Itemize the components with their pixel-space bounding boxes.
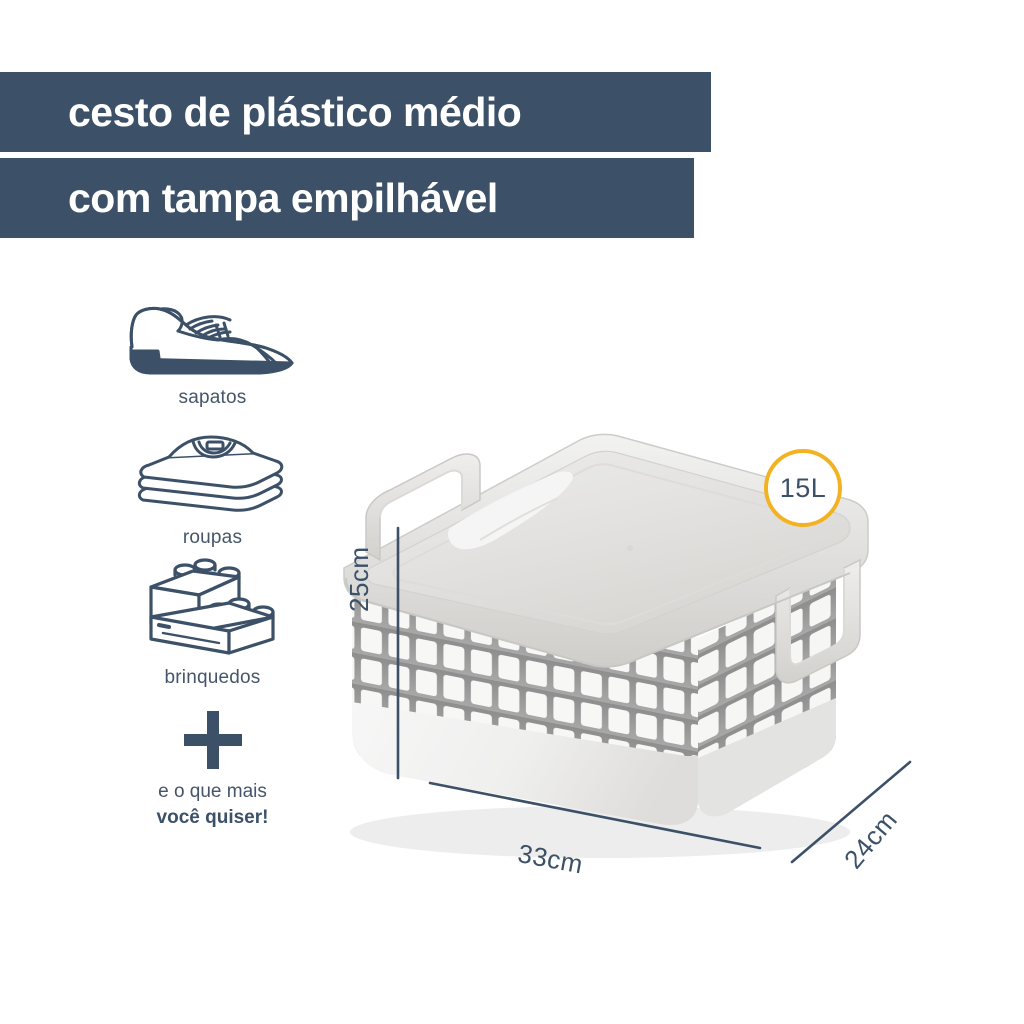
extra-text-line2: você quiser! [110, 807, 315, 829]
title-line1-text: cesto de plástico médio [68, 89, 521, 136]
feature-label-toys: brinquedos [110, 667, 315, 689]
title-banner-line1: cesto de plástico médio [0, 72, 711, 152]
plus-icon [110, 705, 315, 775]
feature-item-shoes: sapatos [110, 285, 315, 409]
capacity-badge-label: 15L [780, 473, 827, 504]
feature-label-clothes: roupas [110, 527, 315, 549]
product-image-basket [330, 400, 990, 920]
feature-item-extra: e o que mais você quiser! [110, 705, 315, 829]
feature-item-toys: brinquedos [110, 565, 315, 689]
toy-bricks-icon [110, 565, 315, 657]
feature-list: sapatos [110, 285, 315, 845]
dress-shoe-icon [110, 285, 315, 377]
folded-clothes-icon [110, 425, 315, 517]
title-banner-line2: com tampa empilhável [0, 158, 694, 238]
title-line2-text: com tampa empilhável [68, 175, 498, 222]
dimension-label-height: 25cm [344, 546, 375, 612]
feature-label-shoes: sapatos [110, 387, 315, 409]
extra-text-line1: e o que mais [110, 781, 315, 803]
infographic-canvas: cesto de plástico médio com tampa empilh… [0, 0, 1024, 1024]
feature-item-clothes: roupas [110, 425, 315, 549]
capacity-badge: 15L [764, 449, 842, 527]
